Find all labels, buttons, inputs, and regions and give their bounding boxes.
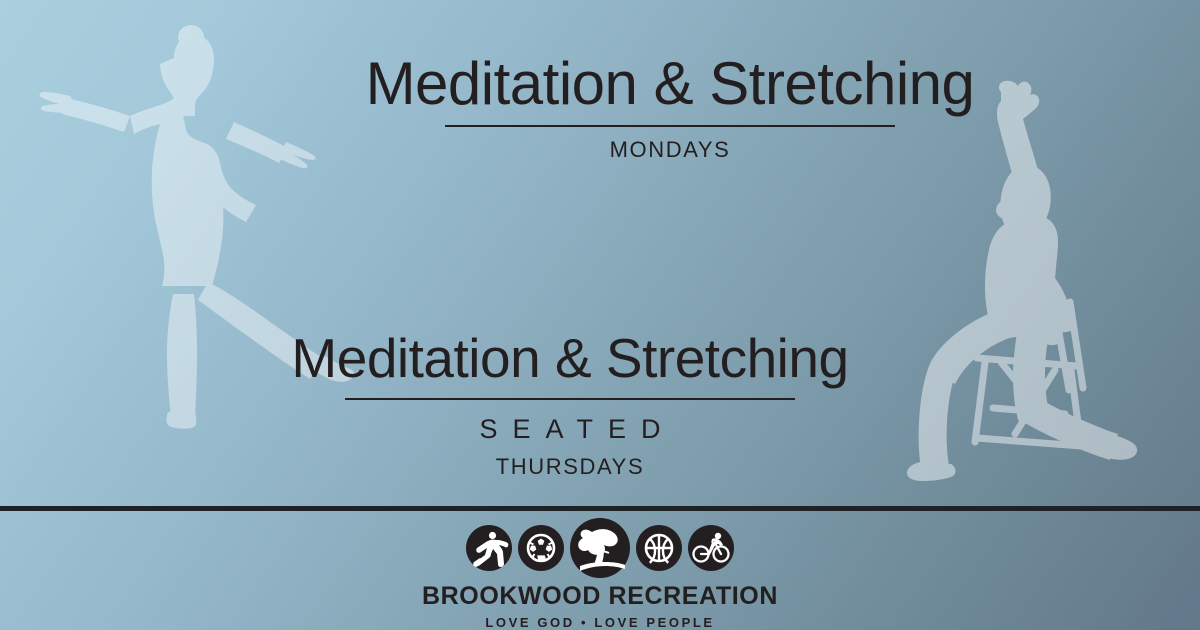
- secondary-headline: Meditation & Stretching: [200, 330, 940, 388]
- cycling-icon: [688, 525, 734, 571]
- brookwood-recreation-logo: BROOKWOOD RECREATION LOVE GOD • LOVE PEO…: [0, 518, 1200, 629]
- logo-icon-row: [466, 518, 734, 578]
- footer-divider: [0, 506, 1200, 511]
- secondary-variant-label: SEATED: [200, 414, 940, 445]
- secondary-day-label: THURSDAYS: [200, 454, 940, 480]
- tree-icon: [570, 518, 630, 578]
- soccer-ball-icon: [518, 525, 564, 571]
- logo-tagline: LOVE GOD • LOVE PEOPLE: [485, 616, 714, 629]
- poster-canvas: Meditation & Stretching MONDAYS Meditati…: [0, 0, 1200, 630]
- running-icon: [466, 525, 512, 571]
- primary-day-label: MONDAYS: [300, 137, 1040, 163]
- primary-headline: Meditation & Stretching: [300, 52, 1040, 115]
- secondary-session-title-block: Meditation & Stretching SEATED THURSDAYS: [200, 330, 940, 480]
- primary-title-rule: [445, 125, 895, 127]
- logo-wordmark: BROOKWOOD RECREATION: [422, 584, 778, 609]
- basketball-icon: [636, 525, 682, 571]
- primary-session-title-block: Meditation & Stretching MONDAYS: [300, 52, 1040, 163]
- secondary-title-rule: [345, 398, 795, 400]
